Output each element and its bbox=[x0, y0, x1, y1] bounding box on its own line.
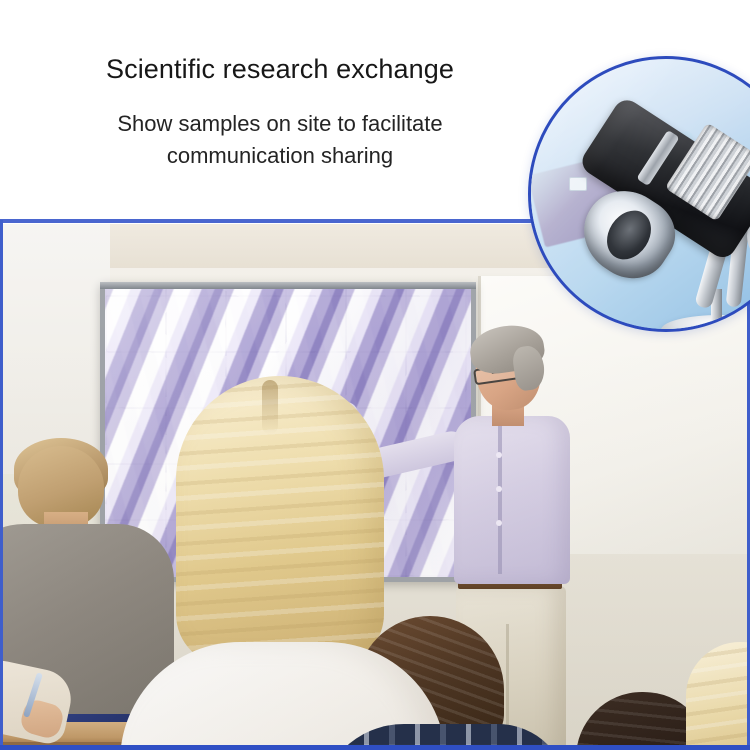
presenter-shirt-placket bbox=[498, 424, 502, 574]
microscope-product-photo bbox=[528, 56, 750, 332]
wall-left bbox=[0, 224, 110, 474]
product-inset-circle bbox=[528, 56, 750, 332]
page-subtitle: Show samples on site to facilitate commu… bbox=[0, 108, 560, 172]
student-blonde-hair-part bbox=[262, 380, 278, 434]
product-banner-page: Scientific research exchange Show sample… bbox=[0, 0, 750, 750]
page-border-left bbox=[0, 220, 3, 750]
fabric-label bbox=[569, 177, 587, 191]
student-blonde-hair-strands bbox=[176, 376, 384, 666]
presenter-shirt bbox=[454, 416, 570, 584]
presenter-shirt-button bbox=[496, 520, 502, 526]
subtitle-line-2: communication sharing bbox=[0, 140, 560, 172]
subtitle-line-1: Show samples on site to facilitate bbox=[0, 108, 560, 140]
presenter-shirt-button bbox=[496, 486, 502, 492]
page-title: Scientific research exchange bbox=[0, 52, 560, 86]
page-border-bottom bbox=[0, 745, 750, 750]
presenter-shirt-button bbox=[496, 452, 502, 458]
